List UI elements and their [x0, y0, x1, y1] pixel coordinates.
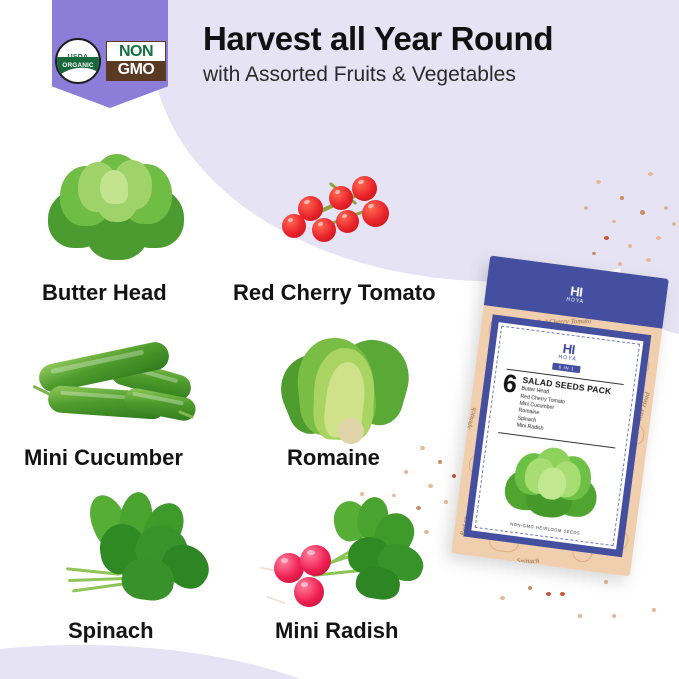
- background-lavender-curve-bottom: [0, 645, 390, 679]
- non-gmo-badge-icon: NON GMO: [106, 41, 166, 81]
- seed-speck: [500, 596, 505, 600]
- non-gmo-line1: NON: [107, 42, 165, 61]
- seed-speck: [664, 206, 668, 210]
- produce-label-spinach: Spinach: [68, 618, 154, 644]
- page-subtitle: with Assorted Fruits & Vegetables: [203, 63, 663, 86]
- mini-cucumbers-image: [28, 345, 203, 440]
- usda-organic-seal-icon: USDA ORGANIC: [55, 38, 101, 84]
- spinach-bunch-image: [66, 492, 216, 607]
- seed-speck: [656, 236, 661, 240]
- produce-label-butter-head: Butter Head: [42, 280, 167, 306]
- page-title: Harvest all Year Round: [203, 22, 663, 57]
- non-gmo-line2: GMO: [107, 61, 165, 80]
- seed-speck: [528, 586, 532, 590]
- seed-speck: [620, 196, 624, 200]
- seed-speck: [596, 180, 601, 184]
- packet-contents-column: SALAD SEEDS PACK Butter Head Red Cherry …: [516, 376, 625, 444]
- seed-packet-product-image: HI HOYA Red Cherry Tomato Butter Head Sp…: [451, 256, 669, 577]
- seed-speck: [578, 614, 582, 618]
- seed-speck: [592, 252, 596, 255]
- produce-label-mini-cucumber: Mini Cucumber: [24, 445, 183, 471]
- mini-radishes-image: [260, 495, 435, 613]
- packet-brand-logo-inner: HI HOYA: [558, 341, 579, 362]
- packet-seed-count: 6: [502, 373, 519, 396]
- seed-speck: [672, 222, 676, 226]
- certification-badges: USDA ORGANIC NON GMO: [55, 38, 166, 84]
- butter-head-lettuce-image: [46, 138, 186, 263]
- seed-speck: [652, 608, 656, 612]
- romaine-lettuce-image: [278, 332, 418, 450]
- produce-label-red-cherry-tomato: Red Cherry Tomato: [233, 280, 436, 306]
- product-infographic: USDA ORGANIC NON GMO Harvest all Year Ro…: [0, 0, 679, 679]
- seed-speck: [604, 236, 609, 240]
- produce-label-romaine: Romaine: [287, 445, 380, 471]
- seed-speck: [560, 592, 565, 596]
- packet-lettuce-photo: [496, 437, 607, 528]
- seed-speck: [648, 172, 653, 176]
- seed-speck: [604, 580, 608, 584]
- packet-script-left-upper: Spinach: [464, 406, 478, 430]
- usda-seal-top-text: USDA: [68, 54, 89, 61]
- seed-speck: [612, 220, 616, 223]
- seed-speck: [646, 258, 651, 262]
- packet-blue-frame: HI HOYA 6 IN 1 6 SALAD SEEDS PACK Butter…: [463, 314, 651, 557]
- seed-speck: [584, 206, 588, 210]
- seed-speck: [444, 500, 448, 504]
- packet-script-bottom: Spinach: [517, 557, 540, 565]
- seed-speck: [546, 592, 551, 596]
- packet-brand-logo-top: HI HOYA: [486, 273, 667, 315]
- usda-seal-bottom-text: ORGANIC: [62, 63, 93, 70]
- cherry-tomato-cluster-image: [282, 170, 402, 255]
- seed-speck: [618, 262, 622, 266]
- seed-speck: [420, 446, 425, 450]
- seed-speck: [628, 244, 632, 248]
- seed-speck: [640, 210, 645, 215]
- packet-body: HI HOYA Red Cherry Tomato Butter Head Sp…: [451, 256, 669, 577]
- seed-speck: [404, 470, 408, 474]
- packet-contents-row: 6 SALAD SEEDS PACK Butter Head Red Cherr…: [497, 373, 625, 443]
- produce-label-mini-radish: Mini Radish: [275, 618, 398, 644]
- packet-label: HI HOYA 6 IN 1 6 SALAD SEEDS PACK Butter…: [475, 326, 640, 547]
- seed-speck: [438, 460, 442, 464]
- packet-brand-sub-inner: HOYA: [558, 355, 577, 362]
- seed-speck: [452, 474, 456, 478]
- seed-speck: [612, 614, 616, 618]
- packet-variety-chip: 6 IN 1: [552, 363, 580, 374]
- seed-speck: [428, 484, 433, 488]
